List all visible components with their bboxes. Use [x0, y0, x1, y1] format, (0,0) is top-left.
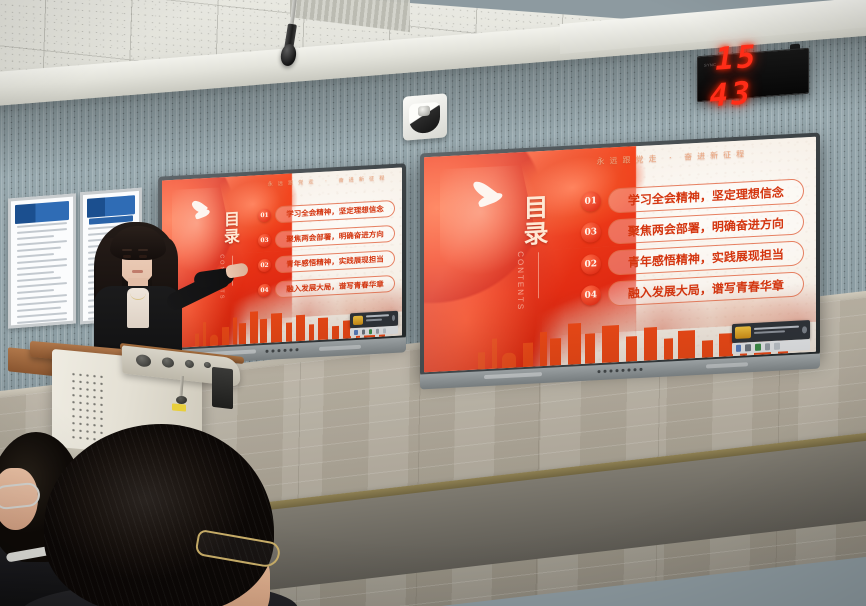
slide-title-rule [538, 252, 539, 298]
agenda-item[interactable]: 03 聚焦两会部署，明确奋进方向 [258, 225, 395, 249]
audience-hair-strands [44, 424, 274, 606]
agenda-item-number: 01 [258, 209, 271, 223]
agenda-item-text: 聚焦两会部署，明确奋进方向 [275, 225, 395, 248]
podium-knob-3[interactable] [185, 359, 194, 368]
notification-app-icon [353, 315, 362, 325]
display-model-label [706, 362, 748, 368]
agenda-item-text: 聚焦两会部署，明确奋进方向 [608, 209, 805, 244]
display-button-row[interactable] [598, 368, 643, 373]
presenter-eye-right [139, 255, 147, 258]
display-button-row[interactable] [266, 348, 299, 353]
taskbar-icon-2[interactable] [362, 329, 365, 334]
presenter-mouth [132, 270, 143, 273]
agenda-item-number: 02 [258, 259, 271, 273]
taskbar-icon-4[interactable] [376, 328, 379, 333]
agenda-item-number: 02 [581, 254, 601, 275]
agenda-item-number: 04 [258, 284, 271, 298]
agenda-item-number: 01 [581, 191, 601, 212]
agenda-item[interactable]: 03 聚焦两会部署，明确奋进方向 [581, 209, 804, 246]
taskbar-icon-4[interactable] [765, 343, 771, 350]
camera-lens-icon [418, 106, 430, 117]
digital-wall-clock: SYNC 15 43 [697, 48, 809, 103]
notification-text-lines [366, 315, 390, 324]
poster-text-lines [17, 222, 68, 329]
podium-knob-4[interactable] [204, 362, 211, 369]
audience-hair [44, 424, 274, 606]
poster-header-banner [87, 195, 135, 218]
agenda-item-text: 青年感悟精神，实践展现担当 [608, 240, 805, 275]
agenda-item-number: 04 [581, 285, 601, 306]
taskbar-icon-1[interactable] [354, 330, 357, 335]
presenter-brow-right [138, 249, 148, 251]
close-icon[interactable] [392, 315, 395, 321]
classroom-scene: SYNC 15 43 [0, 0, 866, 606]
wall-poster-left [8, 193, 76, 328]
agenda-item-number: 03 [258, 234, 271, 248]
clock-time-display: 15 43 [706, 34, 813, 114]
agenda-item-text: 青年感悟精神，实践展现担当 [275, 250, 395, 273]
slide-agenda-list: 01 学习全会精神，坚定理想信念 03 聚焦两会部署，明确奋进方向 02 青年感… [258, 200, 395, 300]
taskbar-icon-3[interactable] [369, 329, 372, 334]
presenter-eye-left [123, 255, 131, 258]
interactive-whiteboard-right[interactable]: 永远跟党走 · 奋进新征程 目录 CONTENTS 01 学习全会精神，坚定理想… [420, 133, 820, 377]
agenda-item[interactable]: 02 青年感悟精神，实践展现担当 [581, 240, 804, 277]
presenter-brow-left [122, 249, 132, 251]
dove-icon [467, 181, 510, 211]
podium-yellow-label [172, 403, 186, 411]
agenda-item[interactable]: 02 青年感悟精神，实践展现担当 [258, 250, 395, 274]
taskbar-icon-3[interactable] [755, 344, 761, 351]
display-brand-label [484, 372, 542, 379]
notification-text-lines [754, 326, 799, 336]
presenter-necklace [130, 286, 146, 300]
podium-knob-1[interactable] [136, 354, 151, 368]
close-icon[interactable] [802, 326, 807, 334]
slide-agenda-list: 01 学习全会精神，坚定理想信念 03 聚焦两会部署，明确奋进方向 02 青年感… [581, 178, 804, 308]
taskbar-icon-1[interactable] [736, 345, 742, 352]
taskbar-icon-5[interactable] [383, 328, 386, 333]
taskbar-icon-2[interactable] [745, 344, 751, 351]
audience-member-front [44, 424, 274, 606]
podium-knob-2[interactable] [162, 357, 174, 368]
taskbar-icon-5[interactable] [774, 343, 780, 350]
slide-title-en: CONTENTS [516, 251, 525, 317]
slide-title-cn: 目录 [522, 194, 547, 247]
presentation-slide: 永远跟党走 · 奋进新征程 目录 CONTENTS 01 学习全会精神，坚定理想… [424, 137, 816, 373]
notification-app-icon [735, 327, 751, 340]
display-model-label [319, 345, 361, 351]
display-panel[interactable]: 永远跟党走 · 奋进新征程 目录 CONTENTS 01 学习全会精神，坚定理想… [424, 137, 816, 373]
poster-header-banner [15, 201, 68, 224]
podium-microphone-icon [176, 396, 187, 404]
podium-speaker [212, 367, 233, 410]
agenda-item-number: 03 [581, 222, 601, 243]
